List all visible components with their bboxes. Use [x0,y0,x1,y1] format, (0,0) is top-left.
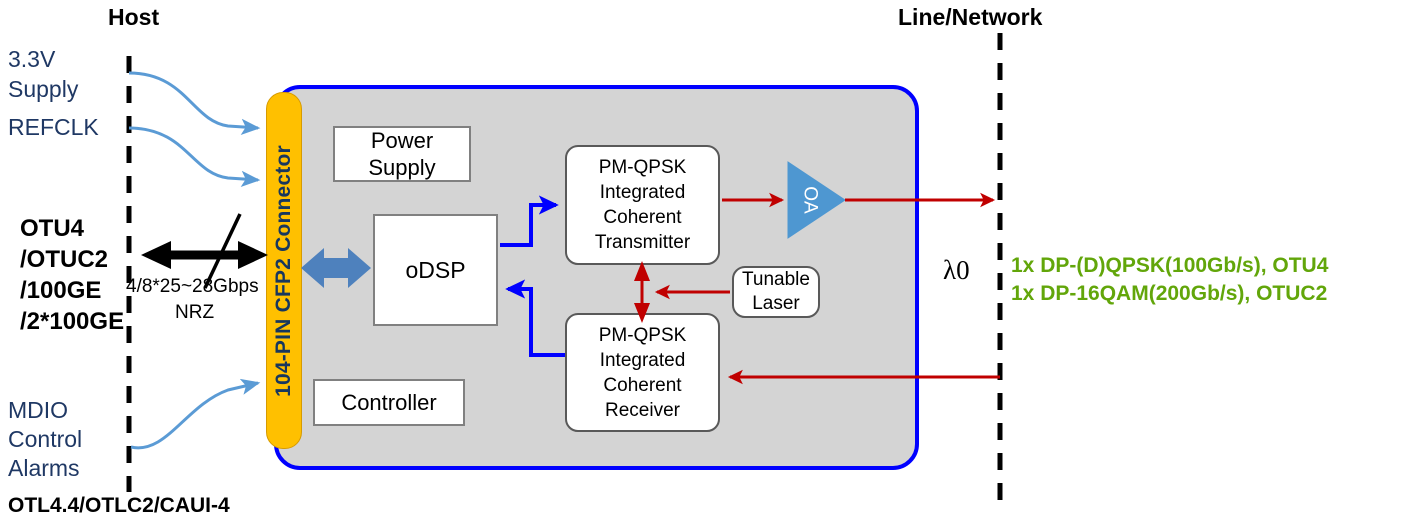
oa-label: OA [800,186,821,214]
arrow-mdio [131,383,258,448]
connections-layer: OA [0,0,1416,523]
path-laser-split [634,261,650,323]
path-odsp-to-transmitter [500,205,556,245]
path-receiver-to-odsp [508,289,565,355]
arrow-refclk [129,128,258,180]
optical-amplifier: OA [788,162,845,238]
arrow-supply [129,73,258,128]
arrow-host-bus [141,214,268,288]
arrow-connector-odsp [301,248,371,288]
diagram-canvas: Host Line/Network 3.3V Supply REFCLK OTU… [0,0,1416,523]
